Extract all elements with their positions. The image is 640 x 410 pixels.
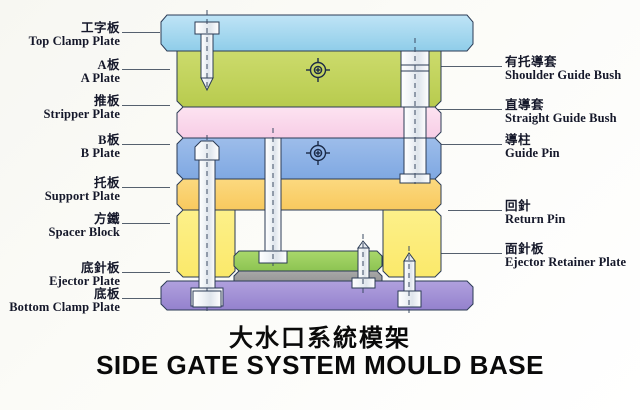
label-guide-pin-en: Guide Pin [505,147,639,160]
label-ejector-plate-cn: 底針板 [2,262,120,275]
title-english: SIDE GATE SYSTEM MOULD BASE [0,350,640,381]
label-bottom-clamp-plate-en: Bottom Clamp Plate [2,301,120,314]
label-straight-guide-bush-cn: 直導套 [505,99,639,112]
label-spacer-block-en: Spacer Block [2,226,120,239]
label-return-pin: 回針 Return Pin [505,200,639,227]
label-stripper-plate-cn: 推板 [2,95,120,108]
label-b-plate: B板 B Plate [2,134,120,161]
label-return-pin-cn: 回針 [505,200,639,213]
label-support-plate: 托板 Support Plate [2,177,120,204]
label-b-plate-en: B Plate [2,147,120,160]
part-support-pin-shank [199,160,215,288]
label-guide-pin: 導柱 Guide Pin [505,134,639,161]
diagram-canvas: 工字板 Top Clamp Plate A板 A Plate 推板 Stripp… [0,0,640,410]
part-stripper-plate [177,107,441,138]
label-ejector-plate: 底針板 Ejector Plate [2,262,120,289]
label-stripper-plate-en: Stripper Plate [2,108,120,121]
label-ejector-retainer-plate-cn: 面針板 [505,243,639,256]
label-shoulder-guide-bush: 有托導套 Shoulder Guide Bush [505,56,639,83]
label-top-clamp-plate-cn: 工字板 [2,22,120,35]
part-bottom-screw-seat [193,291,221,307]
label-straight-guide-bush: 直導套 Straight Guide Bush [505,99,639,126]
label-guide-pin-cn: 導柱 [505,134,639,147]
label-ejector-retainer-plate: 面針板 Ejector Retainer Plate [505,243,639,270]
label-a-plate: A板 A Plate [2,59,120,86]
label-bottom-clamp-plate: 底板 Bottom Clamp Plate [2,288,120,315]
label-stripper-plate: 推板 Stripper Plate [2,95,120,122]
label-shoulder-guide-bush-en: Shoulder Guide Bush [505,69,639,82]
part-support-plate [177,179,441,210]
label-shoulder-guide-bush-cn: 有托導套 [505,56,639,69]
label-straight-guide-bush-en: Straight Guide Bush [505,112,639,125]
label-support-plate-cn: 托板 [2,177,120,190]
label-spacer-block-cn: 方鐵 [2,213,120,226]
title-chinese: 大水口系統模架 [0,318,640,353]
label-top-clamp-plate: 工字板 Top Clamp Plate [2,22,120,49]
label-top-clamp-plate-en: Top Clamp Plate [2,35,120,48]
mould-base-cross-section [155,8,495,318]
label-b-plate-cn: B板 [2,134,120,147]
label-spacer-block: 方鐵 Spacer Block [2,213,120,240]
label-bottom-clamp-plate-cn: 底板 [2,288,120,301]
label-a-plate-en: A Plate [2,72,120,85]
label-ejector-retainer-plate-en: Ejector Retainer Plate [505,256,639,269]
label-a-plate-cn: A板 [2,59,120,72]
label-support-plate-en: Support Plate [2,190,120,203]
label-return-pin-en: Return Pin [505,213,639,226]
